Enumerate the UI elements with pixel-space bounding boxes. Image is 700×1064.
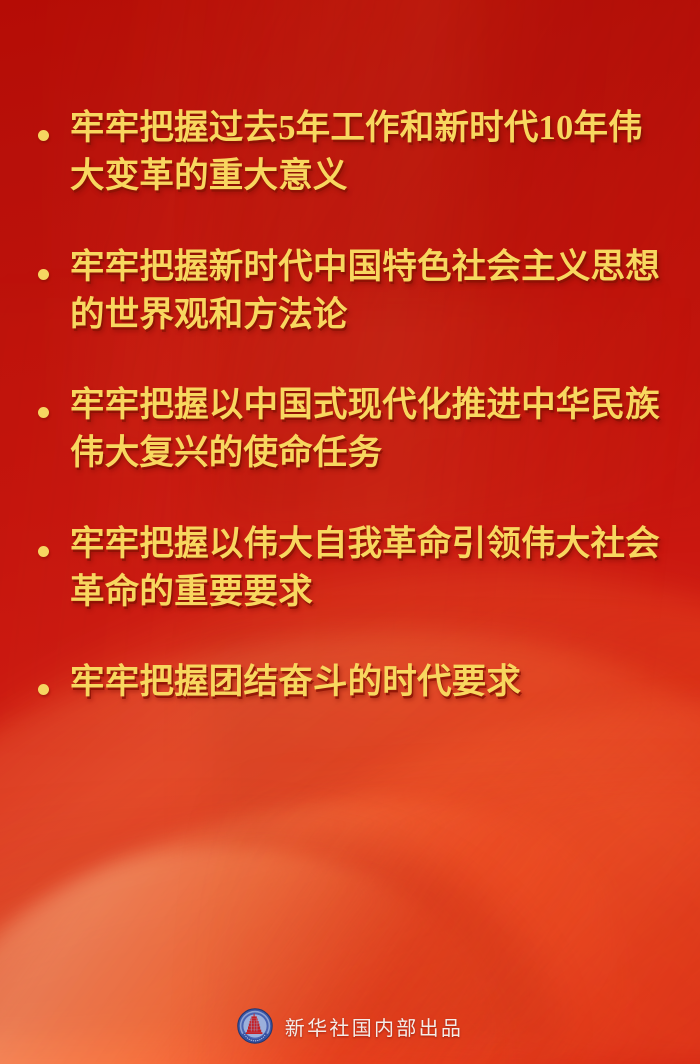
bullet-text: 牢牢把握以伟大自我革命引领伟大社会革命的重要要求 <box>70 520 666 617</box>
list-item: 牢牢把握新时代中国特色社会主义思想的世界观和方法论 <box>0 243 700 340</box>
bullet-text: 牢牢把握以中国式现代化推进中华民族伟大复兴的使命任务 <box>70 381 666 478</box>
bullet-text: 牢牢把握过去5年工作和新时代10年伟大变革的重大意义 <box>70 104 666 201</box>
bullet-dot-icon <box>38 407 49 418</box>
poster-content: 牢牢把握过去5年工作和新时代10年伟大变革的重大意义 牢牢把握新时代中国特色社会… <box>0 0 700 1064</box>
list-item: 牢牢把握以中国式现代化推进中华民族伟大复兴的使命任务 <box>0 381 700 478</box>
bullet-dot-icon <box>38 130 49 141</box>
list-item: 牢牢把握团结奋斗的时代要求 <box>0 658 700 706</box>
bullet-text: 牢牢把握团结奋斗的时代要求 <box>70 658 666 706</box>
footer: 新华社国内部出品 <box>0 1008 700 1044</box>
poster-canvas: 牢牢把握过去5年工作和新时代10年伟大变革的重大意义 牢牢把握新时代中国特色社会… <box>0 0 700 1064</box>
xinhua-emblem-icon <box>237 1008 273 1044</box>
key-points-list: 牢牢把握过去5年工作和新时代10年伟大变革的重大意义 牢牢把握新时代中国特色社会… <box>0 104 700 749</box>
list-item: 牢牢把握过去5年工作和新时代10年伟大变革的重大意义 <box>0 104 700 201</box>
footer-label: 新华社国内部出品 <box>285 1012 463 1041</box>
bullet-dot-icon <box>38 684 49 695</box>
list-item: 牢牢把握以伟大自我革命引领伟大社会革命的重要要求 <box>0 520 700 617</box>
bullet-dot-icon <box>38 546 49 557</box>
bullet-text: 牢牢把握新时代中国特色社会主义思想的世界观和方法论 <box>70 243 666 340</box>
bullet-dot-icon <box>38 269 49 280</box>
